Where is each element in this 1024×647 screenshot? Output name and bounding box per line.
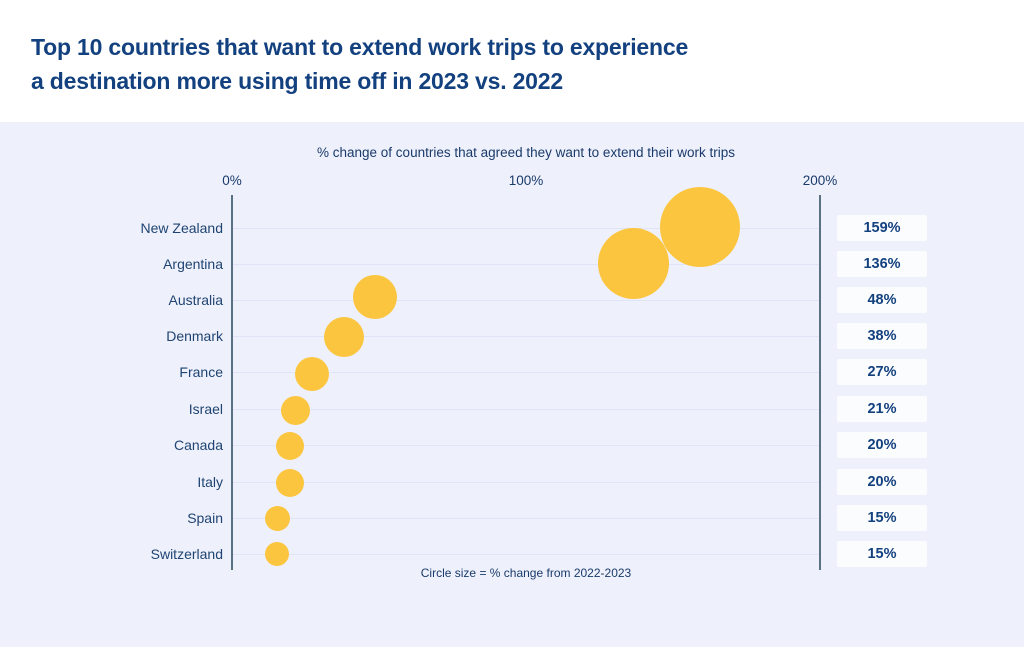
category-label-new-zealand: New Zealand: [3, 220, 223, 236]
bubble-switzerland[interactable]: [265, 542, 289, 566]
value-pill-switzerland: 15%: [837, 541, 927, 567]
gridline: [233, 445, 819, 446]
category-label-argentina: Argentina: [3, 256, 223, 272]
gridline: [233, 482, 819, 483]
value-pill-denmark: 38%: [837, 323, 927, 349]
page-title: Top 10 countries that want to extend wor…: [31, 30, 861, 98]
gridline: [233, 264, 819, 265]
category-label-switzerland: Switzerland: [3, 546, 223, 562]
chart-panel: % change of countries that agreed they w…: [0, 122, 1024, 647]
category-label-australia: Australia: [3, 292, 223, 308]
value-pill-france: 27%: [837, 359, 927, 385]
category-label-spain: Spain: [3, 510, 223, 526]
value-pill-canada: 20%: [837, 432, 927, 458]
x-axis-line-left: [231, 195, 233, 570]
value-pill-israel: 21%: [837, 396, 927, 422]
page-title-line-2: a destination more using time off in 202…: [31, 64, 861, 98]
category-label-denmark: Denmark: [3, 328, 223, 344]
category-label-israel: Israel: [3, 401, 223, 417]
value-pill-australia: 48%: [837, 287, 927, 313]
category-label-italy: Italy: [3, 474, 223, 490]
gridline: [233, 518, 819, 519]
gridline: [233, 336, 819, 337]
bubble-italy[interactable]: [276, 469, 304, 497]
size-legend-note: Circle size = % change from 2022-2023: [233, 566, 819, 580]
value-pill-new-zealand: 159%: [837, 215, 927, 241]
value-pill-italy: 20%: [837, 469, 927, 495]
page-title-line-1: Top 10 countries that want to extend wor…: [31, 34, 688, 60]
gridline: [233, 554, 819, 555]
gridline: [233, 300, 819, 301]
value-pill-argentina: 136%: [837, 251, 927, 277]
bubble-denmark[interactable]: [324, 317, 364, 357]
bubble-new-zealand[interactable]: [660, 187, 740, 267]
gridline: [233, 409, 819, 410]
bubble-canada[interactable]: [276, 432, 304, 460]
bubble-argentina[interactable]: [598, 228, 669, 299]
bubble-france[interactable]: [295, 357, 329, 391]
category-label-france: France: [3, 364, 223, 380]
bubble-australia[interactable]: [353, 275, 397, 319]
chart-page: Top 10 countries that want to extend wor…: [0, 0, 1024, 647]
bubble-spain[interactable]: [265, 506, 290, 531]
value-pill-spain: 15%: [837, 505, 927, 531]
category-label-canada: Canada: [3, 437, 223, 453]
x-axis-line-right: [819, 195, 821, 570]
header: Top 10 countries that want to extend wor…: [0, 0, 1024, 122]
bubble-israel[interactable]: [281, 396, 310, 425]
